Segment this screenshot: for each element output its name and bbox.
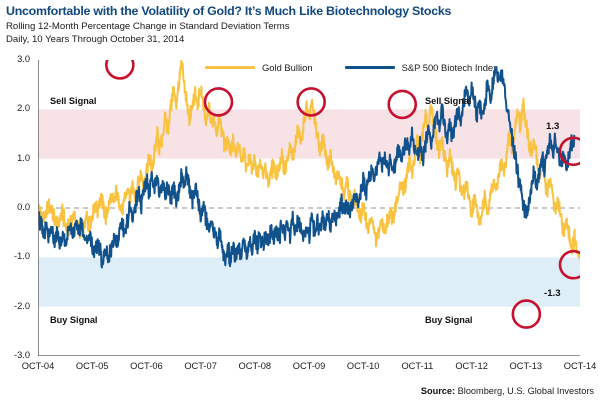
x-tick-label: OCT-06 [118,361,174,371]
sell-signal-label-left: Sell Signal [50,96,96,106]
x-tick-label: OCT-11 [389,361,445,371]
plot-area [38,60,580,356]
x-tick-label: OCT-09 [281,361,337,371]
chart-subtitle-1: Rolling 12-Month Percentage Change in St… [6,21,290,32]
buy-signal-label-right: Buy Signal [425,315,472,325]
x-tick-label: OCT-14 [552,361,600,371]
sell-signal-label-right: Sell Signal [425,96,471,106]
x-tick-label: OCT-13 [498,361,554,371]
page-title: Uncomfortable with the Volatility of Gol… [6,4,451,18]
chart-root: Uncomfortable with the Volatility of Gol… [0,0,600,400]
y-tick-label: -2.0 [4,301,30,311]
y-tick-label: -1.0 [4,251,30,261]
x-tick-label: OCT-12 [444,361,500,371]
x-tick-label: OCT-08 [227,361,283,371]
series-line-sp500-biotech [38,67,574,267]
annotation-circle [106,60,133,78]
y-tick-label: 3.0 [4,54,30,64]
buy-signal-label-left: Buy Signal [50,315,97,325]
value-label-biotech-end: 1.3 [546,121,559,132]
y-tick-label: 0.0 [4,202,30,212]
x-tick-label: OCT-10 [335,361,391,371]
y-tick-label: 2.0 [4,103,30,113]
y-tick-label: 1.0 [4,153,30,163]
chart-subtitle-2: Daily, 10 Years Through October 31, 2014 [6,34,184,45]
x-tick-label: OCT-07 [173,361,229,371]
source-prefix: Source: [421,386,455,396]
y-tick-label: -3.0 [4,350,30,360]
value-label-gold-end: -1.3 [544,288,561,299]
plot-svg [38,60,580,356]
band-buy-signal [38,257,580,306]
source-line: Source: Bloomberg, U.S. Global Investors [421,386,594,396]
source-text: Bloomberg, U.S. Global Investors [455,386,594,396]
x-tick-label: OCT-05 [64,361,120,371]
x-tick-label: OCT-04 [10,361,66,371]
